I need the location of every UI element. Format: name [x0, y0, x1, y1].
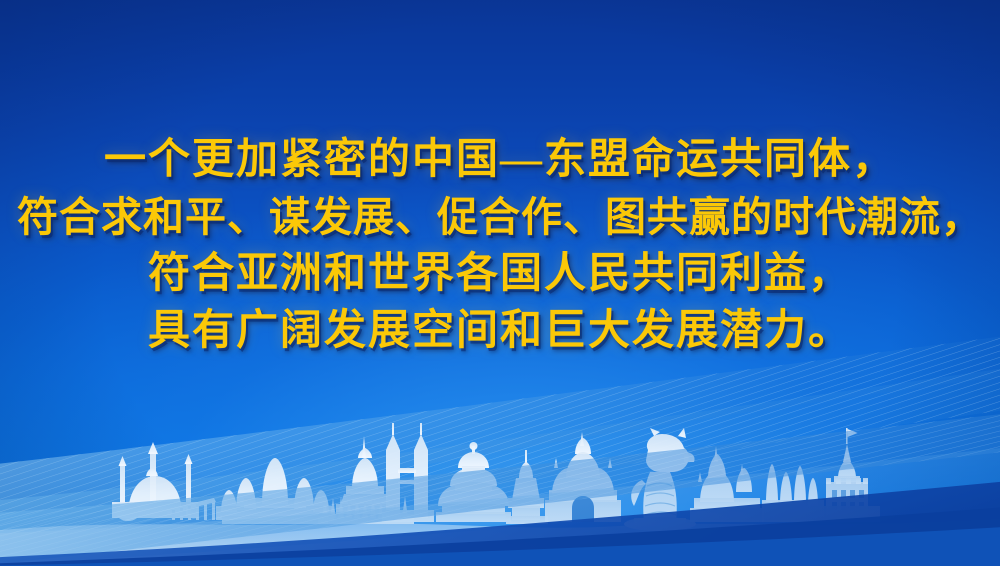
headline-line-3: 符合亚洲和世界各国人民共同利益，	[0, 246, 1000, 303]
china-asean-banner: 一个更加紧密的中国—东盟命运共同体， 符合求和平、谋发展、促合作、图共赢的时代潮…	[0, 0, 1000, 566]
shwedagon-pagoda-icon	[690, 446, 764, 522]
temple-of-heaven-icon	[436, 442, 511, 522]
petronas-twin-towers-icon	[382, 423, 434, 522]
headline-line-1: 一个更加紧密的中国—东盟命运共同体，	[0, 132, 1000, 189]
headline-line-2: 符合求和平、谋发展、促合作、图共赢的时代潮流，	[0, 189, 1000, 246]
landmark-group	[112, 423, 880, 531]
patuxai-victory-gate-icon	[506, 450, 548, 524]
skyline-silhouette	[0, 406, 1000, 566]
malacanang-palace-icon	[762, 428, 880, 522]
angkor-wat-icon	[216, 458, 334, 524]
wat-arun-icon	[545, 432, 621, 522]
merlion-icon	[624, 428, 696, 531]
